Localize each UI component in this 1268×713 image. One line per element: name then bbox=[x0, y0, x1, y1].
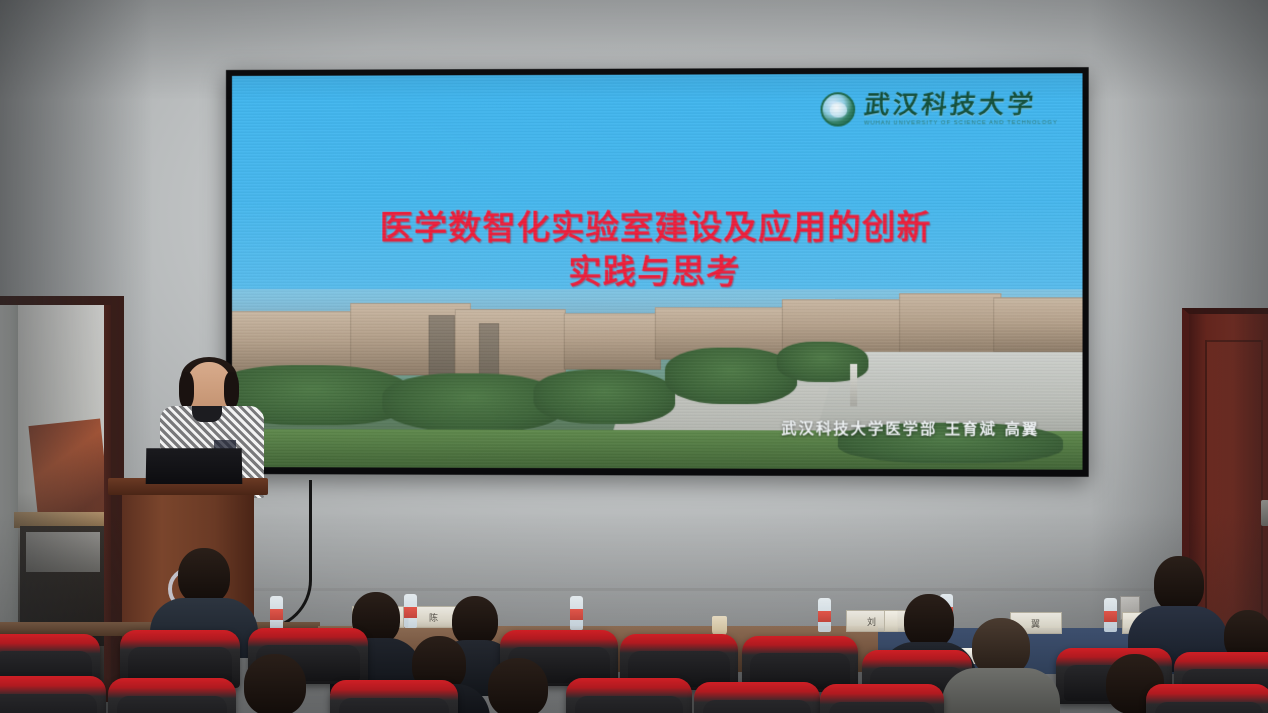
slide-title-line2: 实践与思考 bbox=[232, 249, 1083, 293]
slide-title: 医学数智化实验室建设及应用的创新 实践与思考 bbox=[232, 205, 1083, 293]
water-bottle[interactable] bbox=[818, 598, 831, 632]
slide-title-line1: 医学数智化实验室建设及应用的创新 bbox=[380, 207, 931, 247]
audience-chair[interactable] bbox=[566, 678, 692, 713]
right-door-handle[interactable] bbox=[1261, 500, 1268, 526]
chair-backrest bbox=[575, 696, 683, 713]
audience-chair[interactable] bbox=[330, 680, 458, 713]
campus-trees bbox=[533, 369, 675, 424]
audience-chair[interactable] bbox=[694, 682, 820, 713]
wust-emblem-icon bbox=[820, 92, 855, 126]
campus-building bbox=[429, 315, 455, 377]
presentation-slide[interactable]: 武汉科技大学 WUHAN UNIVERSITY OF SCIENCE AND T… bbox=[232, 73, 1083, 469]
presenter-hair-right bbox=[224, 372, 239, 408]
water-bottle[interactable] bbox=[570, 596, 583, 630]
campus-building bbox=[993, 297, 1082, 352]
water-bottle[interactable] bbox=[1104, 598, 1117, 632]
university-logo: 武汉科技大学 WUHAN UNIVERSITY OF SCIENCE AND T… bbox=[820, 92, 1058, 128]
campus-building bbox=[564, 313, 661, 369]
paper-cup[interactable] bbox=[712, 616, 727, 636]
audience-chair[interactable] bbox=[820, 684, 944, 713]
chair-backrest bbox=[829, 702, 936, 713]
chair-backrest bbox=[0, 694, 97, 713]
presenter-hair-left bbox=[179, 372, 194, 408]
campus-aerial-photo bbox=[232, 289, 1083, 470]
slide-byline: 武汉科技大学医学部 王育斌 高翼 bbox=[781, 417, 1039, 439]
audience-member bbox=[222, 654, 332, 713]
university-logo-text: 武汉科技大学 WUHAN UNIVERSITY OF SCIENCE AND T… bbox=[864, 92, 1058, 127]
chair-backrest bbox=[339, 698, 449, 713]
display-screen-bezel: 武汉科技大学 WUHAN UNIVERSITY OF SCIENCE AND T… bbox=[226, 67, 1089, 477]
audience-chair[interactable] bbox=[1146, 684, 1268, 713]
audience-shoulders bbox=[942, 668, 1060, 713]
university-name-cn: 武汉科技大学 bbox=[863, 92, 1060, 118]
water-bottle[interactable] bbox=[270, 596, 283, 630]
chair-backrest bbox=[117, 696, 227, 713]
audience-member bbox=[468, 658, 572, 713]
university-name-en: WUHAN UNIVERSITY OF SCIENCE AND TECHNOLO… bbox=[864, 121, 1058, 127]
audience-head bbox=[244, 654, 306, 713]
audience-chair[interactable] bbox=[108, 678, 236, 713]
chair-backrest bbox=[1155, 702, 1263, 713]
campus-building bbox=[899, 293, 1001, 356]
presenter-laptop[interactable] bbox=[146, 448, 243, 484]
audience-head bbox=[488, 658, 548, 713]
audience-head bbox=[1154, 556, 1204, 612]
chair-backrest bbox=[703, 700, 811, 713]
audience-head bbox=[178, 548, 230, 604]
presenter-collar bbox=[192, 406, 222, 422]
audience-member bbox=[942, 618, 1060, 713]
campus-monument bbox=[850, 364, 857, 406]
audience-chair[interactable] bbox=[0, 676, 106, 713]
lecture-room-scene: 武汉科技大学 WUHAN UNIVERSITY OF SCIENCE AND T… bbox=[0, 0, 1268, 713]
doorway-inner-box bbox=[26, 532, 100, 572]
